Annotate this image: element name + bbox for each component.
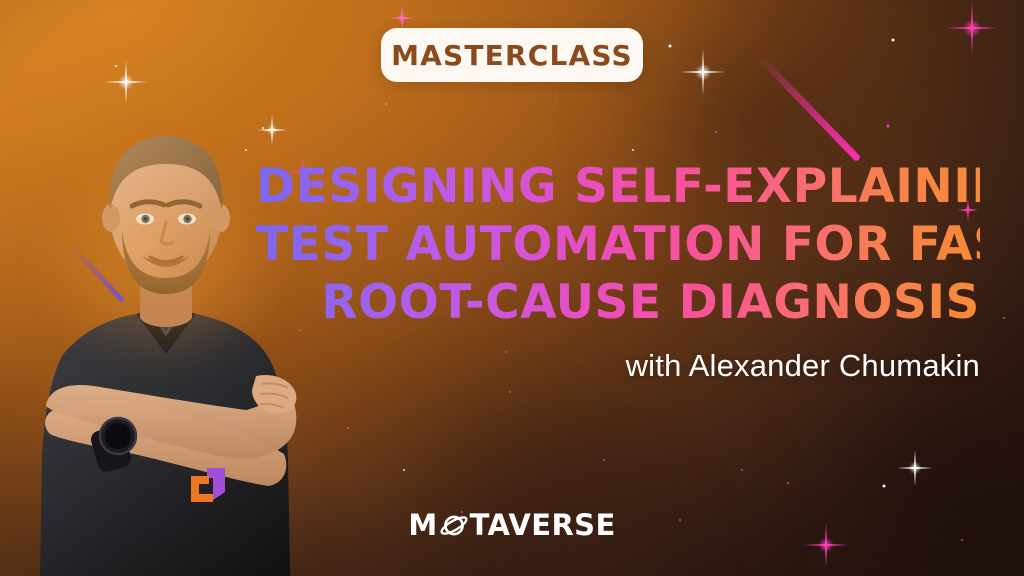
title-line-2: TEST AUTOMATION FOR FAST — [256, 216, 980, 274]
dust-dot — [787, 482, 789, 484]
dust-dot — [887, 125, 890, 128]
dust-dot — [715, 131, 717, 133]
motaverse-logo-text-before: M — [408, 508, 437, 542]
masterclass-badge: MASTERCLASS — [381, 28, 643, 82]
dust-dot — [555, 95, 557, 97]
dust-dot — [1003, 317, 1005, 319]
dust-dot — [892, 39, 895, 42]
dust-dot — [669, 45, 672, 48]
dust-dot — [347, 427, 349, 429]
dust-dot — [603, 459, 605, 461]
speaker-name: with Alexander Chumakin — [626, 348, 980, 384]
motaverse-logo-text-after: TAVERSE — [470, 508, 616, 542]
dust-dot — [71, 85, 73, 87]
title-line-1: DESIGNING SELF-EXPLAINING — [256, 158, 980, 216]
dust-dot — [505, 351, 507, 353]
dust-dot — [29, 41, 31, 43]
title-block: DESIGNING SELF-EXPLAINING TEST AUTOMATIO… — [256, 158, 980, 332]
dust-dot — [632, 149, 634, 151]
dust-dot — [509, 391, 511, 393]
dust-dot — [115, 65, 117, 67]
dust-dot — [883, 485, 886, 488]
company-mark-icon — [185, 466, 231, 508]
dust-dot — [403, 469, 405, 471]
dust-dot — [741, 469, 743, 471]
masterclass-banner: MASTERCLASS DESIGNING SELF-EXPLAINING TE… — [0, 0, 1024, 576]
motaverse-logo: M TAVERSE — [0, 508, 1024, 542]
dust-dot — [385, 103, 387, 105]
title-line-3: ROOT-CAUSE DIAGNOSIS — [256, 274, 980, 332]
saturn-planet-icon — [439, 510, 469, 540]
masterclass-badge-label: MASTERCLASS — [391, 39, 633, 72]
